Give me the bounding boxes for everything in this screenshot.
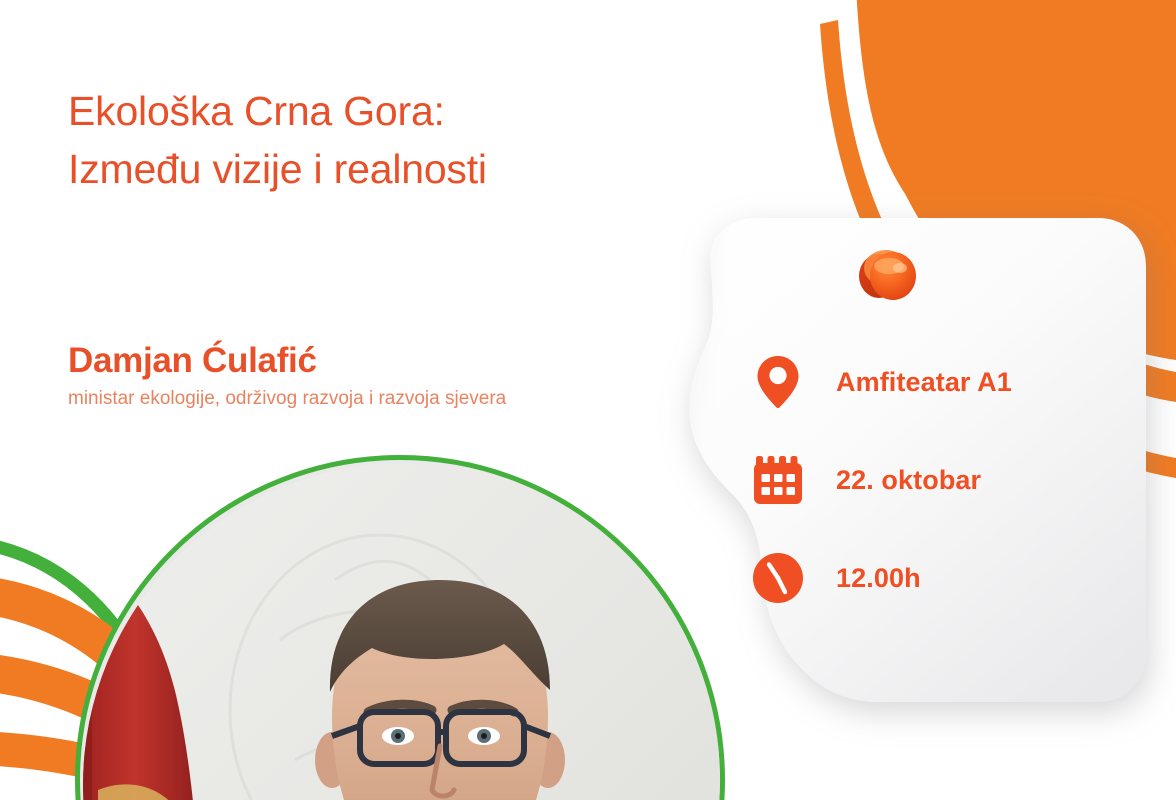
calendar-icon (750, 449, 806, 511)
card-row-time: 12.00h (750, 536, 1110, 620)
speaker-portrait (75, 455, 725, 800)
portrait-photo (80, 460, 720, 800)
pushpin-icon (846, 232, 932, 318)
poster-canvas: Ekološka Crna Gora: Između vizije i real… (0, 0, 1176, 800)
speaker-role: ministar ekologije, održivog razvoja i r… (68, 387, 668, 411)
card-label-time: 12.00h (836, 563, 921, 594)
card-row-date: 22. oktobar (750, 438, 1110, 522)
speaker-block: Damjan Ćulafić ministar ekologije, održi… (68, 340, 668, 411)
headline-line-1: Ekološka Crna Gora: (68, 82, 688, 140)
clock-icon (750, 547, 806, 609)
speaker-name: Damjan Ćulafić (68, 340, 668, 381)
headline-line-2: Između vizije i realnosti (68, 140, 688, 198)
card-label-date: 22. oktobar (836, 465, 981, 496)
location-pin-icon (750, 351, 806, 413)
event-info-card: Amfiteatar A1 (646, 212, 1156, 720)
card-label-location: Amfiteatar A1 (836, 367, 1012, 398)
card-row-location: Amfiteatar A1 (750, 340, 1110, 424)
card-detail-list: Amfiteatar A1 (750, 340, 1110, 620)
headline: Ekološka Crna Gora: Između vizije i real… (68, 82, 688, 198)
